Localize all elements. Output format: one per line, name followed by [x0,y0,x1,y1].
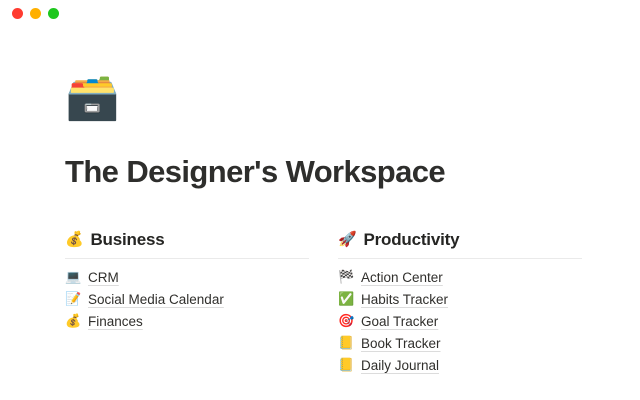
column-productivity: 🚀 Productivity 🏁 Action Center ✅ Habits … [338,230,582,377]
close-window-button[interactable] [12,8,23,19]
list-item-daily-journal[interactable]: 📒 Daily Journal [338,355,582,377]
rocket-icon: 🚀 [338,232,356,247]
money-bag-icon: 💰 [65,232,83,247]
card-file-box-icon[interactable]: 🗃️ [65,76,580,124]
list-item-label[interactable]: Book Tracker [361,335,441,352]
laptop-icon: 💻 [65,271,80,284]
column-heading-productivity: 🚀 Productivity [338,230,582,258]
ledger-icon: 📒 [338,337,353,350]
minimize-window-button[interactable] [30,8,41,19]
list-item-label[interactable]: Finances [88,313,143,330]
ledger-icon: 📒 [338,359,353,372]
page-title: The Designer's Workspace [65,154,580,190]
direct-hit-icon: 🎯 [338,315,353,328]
list-item-finances[interactable]: 💰 Finances [65,311,309,333]
column-heading-label: Productivity [363,230,459,250]
list-item-social-media-calendar[interactable]: 📝 Social Media Calendar [65,289,309,311]
list-item-label[interactable]: Daily Journal [361,357,439,374]
list-item-action-center[interactable]: 🏁 Action Center [338,267,582,289]
link-list-business: 💻 CRM 📝 Social Media Calendar 💰 Finances [65,267,309,333]
list-item-book-tracker[interactable]: 📒 Book Tracker [338,333,582,355]
column-heading-business: 💰 Business [65,230,309,258]
money-bag-icon: 💰 [65,315,80,328]
column-divider-business [65,258,309,259]
page-body: 🗃️ The Designer's Workspace 💰 Business 💻… [0,26,640,400]
column-heading-label: Business [90,230,164,250]
list-item-habits-tracker[interactable]: ✅ Habits Tracker [338,289,582,311]
list-item-goal-tracker[interactable]: 🎯 Goal Tracker [338,311,582,333]
columns-container: 💰 Business 💻 CRM 📝 Social Media Calendar… [65,230,580,377]
list-item-crm[interactable]: 💻 CRM [65,267,309,289]
check-mark-button-icon: ✅ [338,293,353,306]
list-item-label[interactable]: Habits Tracker [361,291,448,308]
column-business: 💰 Business 💻 CRM 📝 Social Media Calendar… [65,230,309,377]
maximize-window-button[interactable] [48,8,59,19]
window-titlebar [0,0,640,26]
list-item-label[interactable]: Goal Tracker [361,313,438,330]
chequered-flag-icon: 🏁 [338,271,353,284]
page-content: 🗃️ The Designer's Workspace 💰 Business 💻… [0,26,640,377]
link-list-productivity: 🏁 Action Center ✅ Habits Tracker 🎯 Goal … [338,267,582,377]
traffic-light-controls [12,8,59,19]
list-item-label[interactable]: Social Media Calendar [88,291,224,308]
memo-icon: 📝 [65,293,80,306]
column-divider-productivity [338,258,582,259]
list-item-label[interactable]: CRM [88,269,119,286]
list-item-label[interactable]: Action Center [361,269,443,286]
